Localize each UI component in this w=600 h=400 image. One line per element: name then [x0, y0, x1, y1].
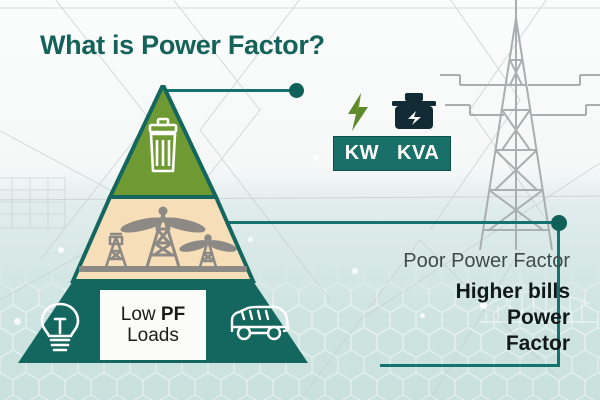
- pf-label-line2: Loads: [127, 325, 179, 346]
- pyramid-tier-middle: [73, 197, 253, 281]
- callout-power: Power: [507, 306, 570, 330]
- callout-poor-power-factor: Poor Power Factor: [403, 250, 570, 273]
- pf-label-bold: PF: [161, 304, 185, 325]
- electric-pylon-icon: [440, 0, 600, 270]
- page-title: What is Power Factor?: [40, 30, 325, 61]
- pf-label-prefix: Low: [121, 304, 161, 325]
- low-pf-loads-label: Low PF Loads: [100, 290, 206, 360]
- spark-dot: [420, 313, 425, 318]
- lightning-bolt-icon: [345, 92, 371, 132]
- callout-higher-bills: Higher bills: [456, 280, 570, 304]
- infographic-canvas: What is Power Factor?: [0, 0, 600, 400]
- spark-dot: [352, 268, 358, 274]
- connector-line-bottom: [380, 364, 560, 367]
- connector-dot-right: [551, 215, 567, 231]
- callout-factor: Factor: [506, 332, 570, 356]
- pyramid-tier-top: [110, 85, 216, 197]
- kw-label: KW: [345, 142, 379, 165]
- spark-dot: [313, 155, 319, 161]
- kva-label: KVA: [397, 142, 439, 165]
- kw-kva-band: KW KVA: [333, 136, 451, 171]
- battery-icon: [388, 92, 440, 132]
